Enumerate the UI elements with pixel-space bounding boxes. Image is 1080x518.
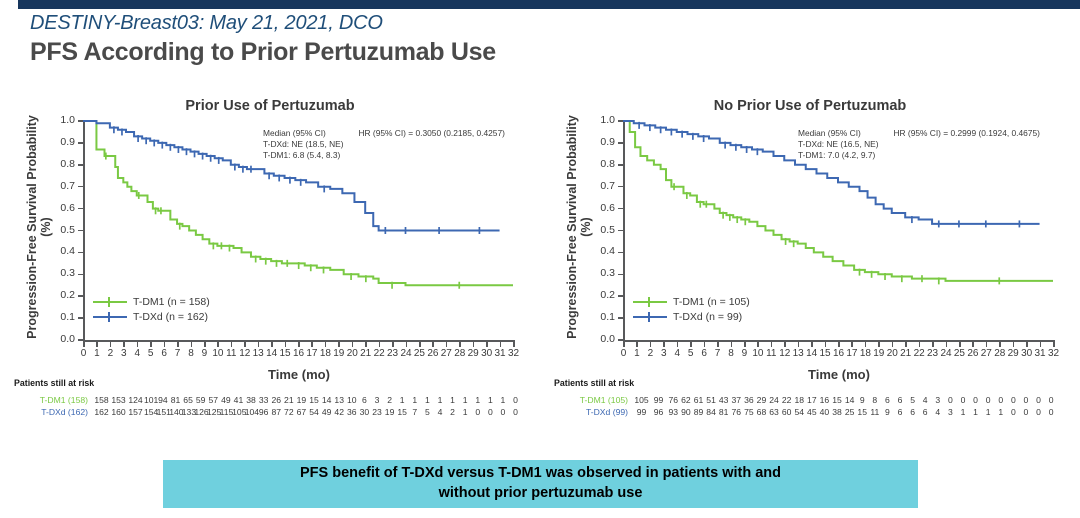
risk-count: 25 — [843, 407, 856, 417]
risk-count: 99 — [650, 395, 667, 405]
y-axis-tick-label: 0.0 — [589, 333, 615, 345]
y-axis-tick-label: 0.6 — [49, 202, 75, 214]
risk-count: 76 — [667, 395, 680, 405]
risk-count: 5 — [421, 407, 434, 417]
risk-count: 36 — [743, 395, 756, 405]
y-axis-tick — [618, 339, 623, 341]
risk-count: 75 — [743, 407, 756, 417]
risk-row-tdm1: T-DM1 (105)10599766261514337362924221817… — [554, 394, 1057, 406]
x-axis-tick — [811, 342, 813, 347]
x-axis-tick — [757, 342, 759, 347]
risk-count: 154 — [144, 407, 157, 417]
x-axis-tick — [298, 342, 300, 347]
x-axis-tick — [919, 342, 921, 347]
x-axis-tick — [379, 342, 381, 347]
x-axis-tick — [878, 342, 880, 347]
risk-count: 3 — [371, 395, 384, 405]
risk-count: 33 — [257, 395, 270, 405]
stat-tdxd-median: T-DXd: NE (18.5, NE) — [263, 139, 505, 150]
statistics-box: Median (95% CI) HR (95% CI) = 0.2999 (0.… — [798, 128, 1040, 161]
x-axis-tick — [338, 342, 340, 347]
legend-label-tdxd: T-DXd (n = 99) — [673, 311, 742, 323]
y-axis-tick-label: 0.9 — [49, 136, 75, 148]
x-axis-tick — [164, 342, 166, 347]
risk-count: 6 — [894, 395, 907, 405]
legend-swatch-tdxd — [93, 311, 127, 323]
x-axis-tick — [473, 342, 475, 347]
x-axis-tick — [972, 342, 974, 347]
risk-count: 19 — [295, 395, 308, 405]
risk-count: 3 — [931, 395, 944, 405]
y-axis-tick — [618, 208, 623, 210]
risk-count: 4 — [931, 407, 944, 417]
x-axis-tick — [285, 342, 287, 347]
risk-row-label: T-DM1 (158) — [14, 395, 93, 405]
risk-count: 60 — [780, 407, 793, 417]
x-axis-tick — [83, 342, 85, 347]
risk-count: 42 — [333, 407, 346, 417]
risk-table-right: Patients still at risk T-DM1 (105)105997… — [554, 378, 1057, 418]
risk-count: 0 — [982, 395, 995, 405]
risk-count: 6 — [906, 407, 919, 417]
legend-item-tdm1: T-DM1 (n = 158) — [93, 294, 210, 309]
y-axis-tick — [618, 317, 623, 319]
risk-count: 15 — [396, 407, 409, 417]
risk-count: 4 — [434, 407, 447, 417]
x-axis-tick — [177, 342, 179, 347]
x-axis-tick — [717, 342, 719, 347]
risk-count: 67 — [295, 407, 308, 417]
conclusion-banner: PFS benefit of T-DXd versus T-DM1 was ob… — [163, 460, 918, 508]
stat-tdm1-median: T-DM1: 7.0 (4.2, 9.7) — [798, 150, 1040, 161]
risk-count: 89 — [692, 407, 705, 417]
risk-count: 38 — [245, 395, 258, 405]
risk-count: 49 — [220, 395, 233, 405]
risk-count: 0 — [1020, 407, 1033, 417]
risk-count: 0 — [994, 395, 1007, 405]
risk-count: 62 — [680, 395, 693, 405]
risk-count: 115 — [220, 407, 233, 417]
stat-median-header: Median (95% CI) HR (95% CI) = 0.3050 (0.… — [263, 128, 505, 139]
risk-count: 153 — [110, 395, 127, 405]
risk-count: 7 — [408, 407, 421, 417]
stat-tdxd-median: T-DXd: NE (16.5, NE) — [798, 139, 1040, 150]
risk-count: 1 — [459, 407, 472, 417]
risk-row-label: T-DM1 (105) — [554, 395, 633, 405]
x-axis-tick — [851, 342, 853, 347]
risk-count: 84 — [705, 407, 718, 417]
x-axis-tick — [959, 342, 961, 347]
risk-table-header: Patients still at risk — [554, 378, 1057, 388]
page-title: PFS According to Prior Pertuzumab Use — [30, 38, 496, 67]
x-axis-tick — [432, 342, 434, 347]
risk-count: 6 — [881, 395, 894, 405]
y-axis-tick-label: 1.0 — [589, 114, 615, 126]
risk-count: 19 — [383, 407, 396, 417]
chart-title: Prior Use of Pertuzumab — [5, 98, 535, 114]
x-axis-tick — [500, 342, 502, 347]
risk-count: 16 — [818, 395, 831, 405]
y-axis-tick — [618, 295, 623, 297]
risk-count: 5 — [906, 395, 919, 405]
x-axis-tick — [825, 342, 827, 347]
x-axis-tick — [137, 342, 139, 347]
risk-count: 133 — [182, 407, 195, 417]
legend-swatch-tdm1 — [633, 296, 667, 308]
risk-count: 23 — [371, 407, 384, 417]
x-axis-tick — [677, 342, 679, 347]
x-axis-tick — [325, 342, 327, 347]
risk-row-label: T-DXd (99) — [554, 407, 633, 417]
y-axis-tick-label: 0.7 — [49, 180, 75, 192]
x-axis-tick — [905, 342, 907, 347]
risk-count: 61 — [692, 395, 705, 405]
x-axis-tick — [650, 342, 652, 347]
risk-count: 24 — [768, 395, 781, 405]
risk-count: 0 — [1020, 395, 1033, 405]
x-axis-tick — [150, 342, 152, 347]
x-axis-tick — [352, 342, 354, 347]
risk-count: 124 — [127, 395, 144, 405]
risk-count: 0 — [1045, 395, 1058, 405]
risk-count: 1 — [484, 395, 497, 405]
y-axis-tick-label: 0.1 — [49, 311, 75, 323]
y-axis-tick — [618, 230, 623, 232]
y-axis-tick — [78, 164, 83, 166]
risk-count: 15 — [856, 407, 869, 417]
risk-count: 81 — [169, 395, 182, 405]
legend-item-tdxd: T-DXd (n = 99) — [633, 309, 750, 324]
y-axis-tick — [78, 230, 83, 232]
x-axis-tick — [1040, 342, 1042, 347]
chart-legend: T-DM1 (n = 158) T-DXd (n = 162) — [93, 294, 210, 324]
x-axis-tick — [123, 342, 125, 347]
risk-count: 6 — [919, 407, 932, 417]
x-axis-tick — [217, 342, 219, 347]
x-axis-tick — [231, 342, 233, 347]
x-axis-tick — [459, 342, 461, 347]
x-axis-tick — [406, 342, 408, 347]
risk-count: 9 — [881, 407, 894, 417]
y-axis-tick — [618, 120, 623, 122]
risk-count: 157 — [127, 407, 144, 417]
legend-item-tdxd: T-DXd (n = 162) — [93, 309, 210, 324]
risk-count: 21 — [283, 395, 296, 405]
risk-count: 10 — [346, 395, 359, 405]
risk-count: 65 — [182, 395, 195, 405]
legend-swatch-tdm1 — [93, 296, 127, 308]
y-axis-tick — [618, 252, 623, 254]
risk-count: 54 — [308, 407, 321, 417]
legend-item-tdm1: T-DM1 (n = 105) — [633, 294, 750, 309]
risk-count: 14 — [843, 395, 856, 405]
stat-tdm1-median: T-DM1: 6.8 (5.4, 8.3) — [263, 150, 505, 161]
risk-count: 87 — [270, 407, 283, 417]
risk-count: 36 — [346, 407, 359, 417]
chart-title: No Prior Use of Pertuzumab — [545, 98, 1075, 114]
risk-table-left: Patients still at risk T-DM1 (158)158153… — [14, 378, 522, 418]
legend-label-tdxd: T-DXd (n = 162) — [133, 311, 208, 323]
y-axis-tick-label: 0.1 — [589, 311, 615, 323]
x-axis-tick — [244, 342, 246, 347]
risk-count: 6 — [358, 395, 371, 405]
risk-row-tdxd: T-DXd (99)999693908984817675686360544540… — [554, 406, 1057, 418]
x-axis-tick-label: 32 — [505, 348, 523, 359]
x-axis-tick — [204, 342, 206, 347]
y-axis-tick-label: 0.5 — [589, 224, 615, 236]
risk-count: 8 — [869, 395, 882, 405]
risk-count: 0 — [1045, 407, 1058, 417]
risk-count: 1 — [396, 395, 409, 405]
x-axis-tick — [271, 342, 273, 347]
risk-count: 1 — [421, 395, 434, 405]
y-axis-tick-label: 0.2 — [49, 289, 75, 301]
y-axis-tick — [78, 208, 83, 210]
risk-count: 18 — [793, 395, 806, 405]
statistics-box: Median (95% CI) HR (95% CI) = 0.3050 (0.… — [263, 128, 505, 161]
x-axis-tick — [704, 342, 706, 347]
risk-count: 160 — [110, 407, 127, 417]
y-axis-tick — [78, 120, 83, 122]
y-axis-tick — [78, 295, 83, 297]
x-axis-tick-label: 32 — [1045, 348, 1063, 359]
x-axis-tick — [258, 342, 260, 347]
stat-median-header: Median (95% CI) HR (95% CI) = 0.2999 (0.… — [798, 128, 1040, 139]
y-axis-tick — [78, 142, 83, 144]
risk-table-header: Patients still at risk — [14, 378, 522, 388]
y-axis-tick — [618, 274, 623, 276]
risk-count: 11 — [869, 407, 882, 417]
risk-count: 4 — [919, 395, 932, 405]
risk-count: 2 — [446, 407, 459, 417]
risk-count: 40 — [818, 407, 831, 417]
risk-row-label: T-DXd (162) — [14, 407, 93, 417]
x-axis-tick — [986, 342, 988, 347]
risk-count: 0 — [484, 407, 497, 417]
y-axis-tick — [78, 317, 83, 319]
y-axis-tick — [78, 186, 83, 188]
risk-count: 0 — [1007, 407, 1020, 417]
risk-count: 9 — [856, 395, 869, 405]
legend-label-tdm1: T-DM1 (n = 105) — [673, 296, 750, 308]
risk-count: 99 — [633, 407, 650, 417]
risk-count: 0 — [957, 395, 970, 405]
risk-count: 51 — [705, 395, 718, 405]
risk-count: 140 — [169, 407, 182, 417]
x-axis-tick — [838, 342, 840, 347]
risk-row-tdm1: T-DM1 (158)15815312410194816559574941383… — [14, 394, 522, 406]
x-axis-tick — [999, 342, 1001, 347]
risk-count: 2 — [383, 395, 396, 405]
x-axis-tick — [96, 342, 98, 347]
x-axis-tick — [932, 342, 934, 347]
x-axis-tick — [771, 342, 773, 347]
risk-count: 1 — [434, 395, 447, 405]
risk-count: 37 — [730, 395, 743, 405]
risk-count: 57 — [207, 395, 220, 405]
risk-count: 15 — [308, 395, 321, 405]
x-axis-tick — [744, 342, 746, 347]
risk-count: 43 — [717, 395, 730, 405]
risk-count: 94 — [157, 395, 170, 405]
legend-label-tdm1: T-DM1 (n = 158) — [133, 296, 210, 308]
y-axis-tick-label: 0.0 — [49, 333, 75, 345]
x-axis-tick — [419, 342, 421, 347]
risk-row-tdxd: T-DXd (162)16216015715415114013312612511… — [14, 406, 522, 418]
y-axis-tick-label: 0.4 — [589, 245, 615, 257]
risk-count: 1 — [969, 407, 982, 417]
legend-swatch-tdxd — [633, 311, 667, 323]
risk-count: 38 — [831, 407, 844, 417]
risk-count: 76 — [730, 407, 743, 417]
x-axis-tick — [1013, 342, 1015, 347]
risk-count: 13 — [333, 395, 346, 405]
x-axis-tick — [365, 342, 367, 347]
x-axis-tick — [731, 342, 733, 347]
risk-count: 54 — [793, 407, 806, 417]
top-accent-bar — [0, 0, 1080, 9]
x-axis-tick — [798, 342, 800, 347]
risk-count: 125 — [207, 407, 220, 417]
risk-count: 0 — [509, 407, 522, 417]
risk-count: 96 — [257, 407, 270, 417]
risk-count: 59 — [194, 395, 207, 405]
y-axis-tick — [78, 252, 83, 254]
x-axis-tick — [191, 342, 193, 347]
risk-count: 0 — [509, 395, 522, 405]
y-axis-tick-label: 0.4 — [49, 245, 75, 257]
risk-count: 105 — [232, 407, 245, 417]
banner-line-1: PFS benefit of T-DXd versus T-DM1 was ob… — [300, 464, 781, 484]
risk-count: 101 — [144, 395, 157, 405]
risk-count: 126 — [194, 407, 207, 417]
risk-count: 90 — [680, 407, 693, 417]
x-axis-tick — [1053, 342, 1055, 347]
risk-count: 1 — [471, 395, 484, 405]
risk-count: 41 — [232, 395, 245, 405]
risk-count: 0 — [1032, 407, 1045, 417]
y-axis-tick-label: 0.3 — [49, 267, 75, 279]
risk-count: 63 — [768, 407, 781, 417]
risk-count: 0 — [969, 395, 982, 405]
x-axis-tick — [110, 342, 112, 347]
risk-count: 72 — [283, 407, 296, 417]
x-axis-tick — [513, 342, 515, 347]
risk-count: 14 — [320, 395, 333, 405]
risk-count: 93 — [667, 407, 680, 417]
y-axis-tick — [618, 186, 623, 188]
risk-count: 1 — [459, 395, 472, 405]
banner-line-2: without prior pertuzumab use — [439, 484, 643, 504]
risk-count: 1 — [994, 407, 1007, 417]
y-axis-tick-label: 0.5 — [49, 224, 75, 236]
risk-count: 17 — [806, 395, 819, 405]
y-axis-tick — [78, 274, 83, 276]
risk-count: 0 — [1007, 395, 1020, 405]
y-axis-tick-label: 0.8 — [49, 158, 75, 170]
x-axis-tick — [784, 342, 786, 347]
risk-count: 1 — [982, 407, 995, 417]
y-axis-tick-label: 0.9 — [589, 136, 615, 148]
risk-count: 1 — [957, 407, 970, 417]
x-axis-tick — [1026, 342, 1028, 347]
y-axis-tick-label: 1.0 — [49, 114, 75, 126]
risk-count: 96 — [650, 407, 667, 417]
y-axis-tick — [618, 164, 623, 166]
risk-count: 1 — [408, 395, 421, 405]
y-axis-tick-label: 0.8 — [589, 158, 615, 170]
x-axis-tick — [623, 342, 625, 347]
risk-count: 104 — [245, 407, 258, 417]
risk-count: 0 — [471, 407, 484, 417]
risk-count: 0 — [1032, 395, 1045, 405]
risk-count: 6 — [894, 407, 907, 417]
risk-count: 15 — [831, 395, 844, 405]
y-axis-tick — [618, 142, 623, 144]
y-axis-tick — [78, 339, 83, 341]
x-axis-tick — [663, 342, 665, 347]
x-axis-tick — [446, 342, 448, 347]
y-axis-tick-label: 0.6 — [589, 202, 615, 214]
risk-count: 1 — [446, 395, 459, 405]
x-axis-tick — [946, 342, 948, 347]
risk-count: 1 — [497, 395, 510, 405]
x-axis-tick — [892, 342, 894, 347]
slide-subtitle: DESTINY-Breast03: May 21, 2021, DCO — [30, 12, 383, 35]
x-axis-tick — [311, 342, 313, 347]
risk-count: 0 — [497, 407, 510, 417]
x-axis-tick — [690, 342, 692, 347]
chart-legend: T-DM1 (n = 105) T-DXd (n = 99) — [633, 294, 750, 324]
top-accent-notch — [0, 0, 18, 9]
y-axis-tick-label: 0.2 — [589, 289, 615, 301]
x-axis-tick — [392, 342, 394, 347]
risk-count: 105 — [633, 395, 650, 405]
risk-count: 3 — [944, 407, 957, 417]
risk-count: 29 — [755, 395, 768, 405]
risk-count: 45 — [806, 407, 819, 417]
y-axis-tick-label: 0.7 — [589, 180, 615, 192]
risk-count: 158 — [93, 395, 110, 405]
risk-count: 0 — [944, 395, 957, 405]
risk-count: 151 — [157, 407, 170, 417]
x-axis-tick — [486, 342, 488, 347]
risk-count: 30 — [358, 407, 371, 417]
risk-count: 49 — [320, 407, 333, 417]
x-axis-tick — [636, 342, 638, 347]
x-axis-tick — [865, 342, 867, 347]
risk-count: 22 — [780, 395, 793, 405]
y-axis-tick-label: 0.3 — [589, 267, 615, 279]
risk-count: 162 — [93, 407, 110, 417]
risk-count: 26 — [270, 395, 283, 405]
risk-count: 81 — [717, 407, 730, 417]
risk-count: 68 — [755, 407, 768, 417]
